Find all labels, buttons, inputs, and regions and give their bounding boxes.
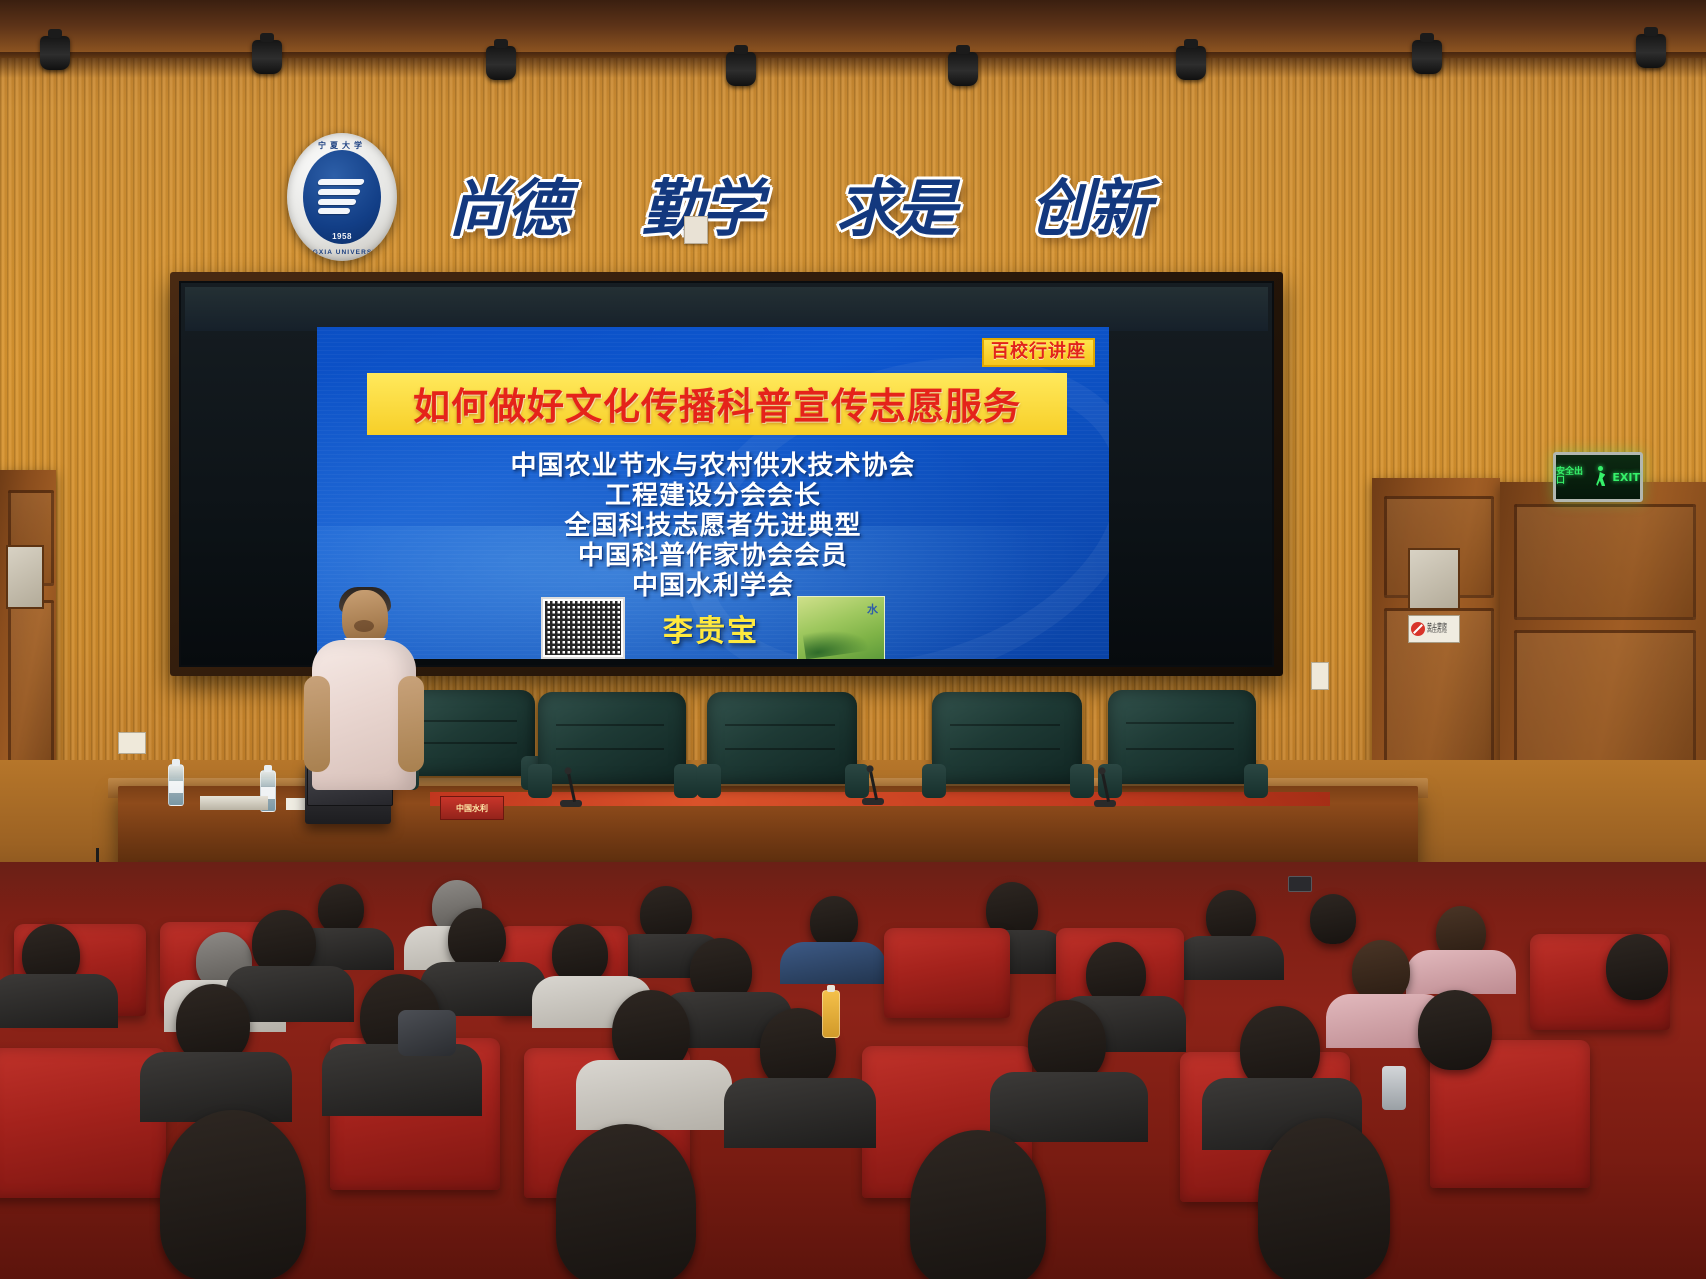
- slide-title: 如何做好文化传播科普宣传志愿服务: [367, 373, 1067, 435]
- door-panel: [1514, 504, 1696, 620]
- chair-arm: [922, 764, 946, 798]
- presentation-slide: 百校行讲座 如何做好文化传播科普宣传志愿服务 中国农业节水与农村供水技术协会 工…: [317, 327, 1109, 659]
- chair-stitch: [556, 748, 664, 750]
- audience-area: [0, 862, 1706, 1279]
- audience-shoulders: [1176, 936, 1284, 980]
- track-light-icon: [252, 40, 282, 74]
- logo-cn-text: 宁夏大学: [287, 140, 397, 151]
- book-cover-title: 水: [867, 601, 878, 617]
- audience-head: [1606, 934, 1668, 1000]
- track-light-icon: [1636, 34, 1666, 68]
- chair-back: [1108, 690, 1256, 784]
- chair-arm: [1244, 764, 1268, 798]
- motto-char-3: 求是: [836, 158, 954, 248]
- audience-head: [1310, 894, 1356, 944]
- chair-stitch: [423, 742, 517, 744]
- slide-footer-row: 李贵宝 水: [317, 597, 1109, 659]
- audience-head: [1352, 940, 1410, 1002]
- audience-head: [556, 1124, 696, 1279]
- exit-sign-en-text: EXIT: [1612, 471, 1640, 484]
- backpack: [398, 1010, 456, 1056]
- thermos-cup: [1382, 1066, 1406, 1110]
- presenter-arm: [304, 676, 330, 772]
- beverage-bottle: [822, 990, 840, 1038]
- door-left-window: [6, 545, 44, 609]
- logo-year-text: 1958: [287, 232, 397, 241]
- audience-shoulders: [576, 1060, 732, 1130]
- university-logo: 宁夏大学 1958 NINGXIA UNIVERSITY: [287, 133, 397, 261]
- smartphone-icon[interactable]: [1288, 876, 1312, 892]
- microphone-base: [1094, 800, 1116, 807]
- nameplate-text: 中国水利: [456, 803, 488, 814]
- track-light-icon: [40, 36, 70, 70]
- lecture-hall-photo: 宁夏大学 1958 NINGXIA UNIVERSITY 尚德 勤学 求是 创新…: [0, 0, 1706, 1279]
- motto-char-4: 创新: [1030, 158, 1148, 248]
- exit-sign-cn-text: 安全出口: [1556, 468, 1590, 486]
- motto-char-1: 尚德: [448, 158, 566, 248]
- slide-credential-line: 工程建设分会会长: [317, 481, 1109, 511]
- slide-credential-line: 全国科技志愿者先进典型: [317, 511, 1109, 541]
- audience-head: [1418, 990, 1492, 1070]
- track-light-icon: [948, 52, 978, 86]
- slide-credential-line: 中国农业节水与农村供水技术协会: [317, 451, 1109, 481]
- track-light-icon: [1176, 46, 1206, 80]
- logo-inner-disc: [303, 150, 381, 244]
- slide-credentials-list: 中国农业节水与农村供水技术协会 工程建设分会会长 全国科技志愿者先进典型 中国科…: [317, 451, 1109, 601]
- audience-head: [160, 1110, 306, 1279]
- chair-arm: [674, 764, 698, 798]
- audience-shoulders: [724, 1078, 876, 1148]
- conference-chair: [922, 692, 1094, 812]
- audience-head: [318, 884, 364, 934]
- audience-head: [910, 1130, 1046, 1279]
- chair-back: [405, 690, 535, 776]
- qr-code-icon: [541, 597, 625, 659]
- wall-switch[interactable]: [1311, 662, 1329, 690]
- audience-shoulders: [780, 942, 886, 984]
- track-light-icon: [1412, 40, 1442, 74]
- conference-chair: [697, 692, 869, 812]
- chair-arm: [528, 764, 552, 798]
- chair-arm: [1070, 764, 1094, 798]
- audience-head: [448, 908, 506, 970]
- led-screen-top-dark: [185, 287, 1268, 331]
- document-stack: [200, 796, 268, 810]
- logo-swoosh-icon: [316, 175, 368, 219]
- audience-head: [552, 924, 608, 984]
- prohibition-icon: [1411, 622, 1425, 636]
- wall-motto: 尚德 勤学 求是 创新: [448, 148, 1148, 258]
- presenter-arm: [398, 676, 424, 772]
- chair-arm: [845, 764, 869, 798]
- book-cover-thumbnail: 水: [797, 596, 885, 659]
- logo-en-text: NINGXIA UNIVERSITY: [287, 249, 397, 256]
- microphone-base: [862, 798, 884, 805]
- chair-back: [932, 692, 1082, 784]
- door-right-window: [1408, 548, 1460, 610]
- audience-head: [810, 896, 858, 948]
- chair-back: [538, 692, 686, 784]
- conference-chair: [528, 692, 698, 812]
- chair-stitch: [1126, 722, 1234, 724]
- emergency-exit-sign: 安全出口 EXIT: [1553, 452, 1643, 502]
- chair-stitch: [725, 748, 835, 750]
- wall-switch[interactable]: [118, 732, 146, 754]
- warning-sign: 禁止攀爬 高压危险: [1408, 615, 1460, 643]
- slide-speaker-name: 李贵宝: [663, 606, 759, 650]
- audience-shoulders: [1406, 950, 1516, 994]
- chair-stitch: [423, 720, 517, 722]
- chair-stitch: [725, 724, 835, 726]
- chair-stitch: [950, 724, 1060, 726]
- slide-series-badge: 百校行讲座: [982, 338, 1095, 367]
- chair-back: [707, 692, 857, 784]
- table-nameplate: 中国水利: [440, 796, 504, 820]
- audience-shoulders: [990, 1072, 1148, 1142]
- conference-chair: [1098, 690, 1268, 810]
- wall-plate: [684, 216, 708, 244]
- chair-stitch: [1126, 748, 1234, 750]
- warning-text-block: 禁止攀爬 高压危险: [1427, 624, 1447, 634]
- audience-head: [1258, 1118, 1390, 1279]
- track-light-icon: [486, 46, 516, 80]
- chair-stitch: [556, 724, 664, 726]
- slide-credential-line: 中国科普作家协会会员: [317, 541, 1109, 571]
- microphone-base: [560, 800, 582, 807]
- bottle-label: [169, 781, 183, 793]
- chair-stitch: [950, 748, 1060, 750]
- auditorium-seat[interactable]: [884, 928, 1010, 1018]
- warning-line-2: 高压危险: [1427, 629, 1447, 634]
- water-bottle: [168, 764, 184, 806]
- running-man-icon: [1593, 466, 1609, 488]
- chair-arm: [697, 764, 721, 798]
- track-light-icon: [726, 52, 756, 86]
- qr-code-pattern: [545, 601, 621, 655]
- audience-shoulders: [0, 974, 118, 1028]
